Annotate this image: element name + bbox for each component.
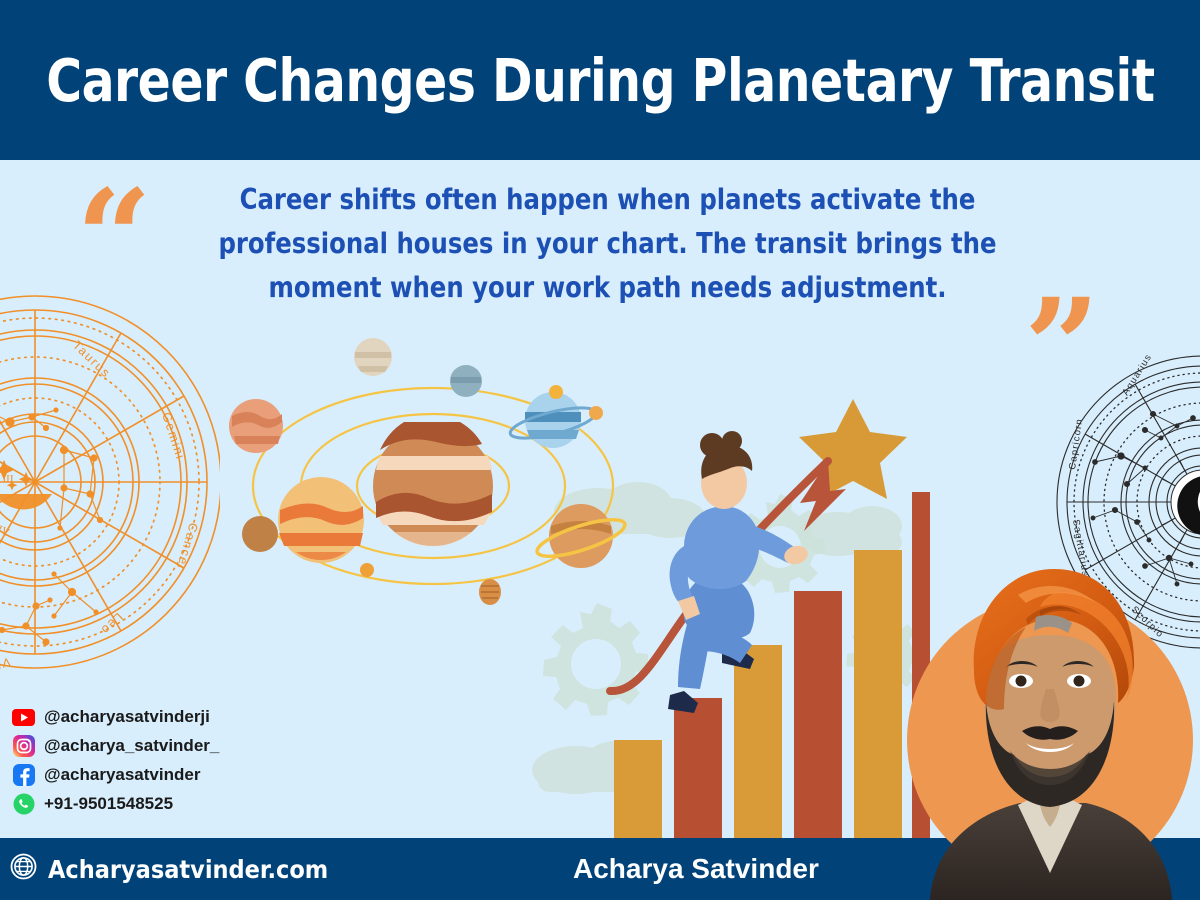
social-handle-facebook: @acharyasatvinder bbox=[44, 765, 200, 785]
quote-text: Career shifts often happen when planets … bbox=[185, 178, 1030, 310]
planet-neptune bbox=[450, 365, 482, 397]
footer-website[interactable]: Acharyasatvinder.com bbox=[10, 838, 328, 900]
social-links: @acharyasatvinderji @acharya_ bbox=[12, 704, 219, 817]
footer-website-text: Acharyasatvinder.com bbox=[48, 855, 328, 884]
poster-canvas: Career Changes During Planetary Transit bbox=[0, 0, 1200, 900]
planets-illustration bbox=[218, 330, 648, 630]
globe-icon bbox=[10, 853, 37, 885]
shoe-left bbox=[668, 691, 698, 713]
zodiac-label-virgo: Virgo bbox=[0, 655, 12, 674]
planet-mercury bbox=[242, 516, 278, 552]
quote-line-3: moment when your work path needs adjustm… bbox=[206, 266, 1009, 310]
social-handle-whatsapp: +91-9501548525 bbox=[44, 794, 173, 814]
zodiac-label-taurus: Taurus bbox=[70, 338, 114, 381]
social-row-facebook[interactable]: @acharyasatvinder bbox=[12, 762, 219, 788]
torso bbox=[683, 506, 759, 589]
zodiac-label-aquarius: Aquarius bbox=[1120, 352, 1154, 398]
quote-mark-close: ” bbox=[1024, 282, 1100, 414]
bar-4 bbox=[794, 591, 842, 840]
planet-uranus bbox=[354, 338, 392, 376]
facebook-icon[interactable] bbox=[12, 764, 35, 787]
youtube-icon[interactable] bbox=[12, 706, 35, 729]
zodiac-label-cancer: Cancer bbox=[173, 521, 200, 573]
header-bar: Career Changes During Planetary Transit bbox=[0, 0, 1200, 160]
instagram-icon[interactable] bbox=[12, 735, 35, 758]
zodiac-label-aries: Aries bbox=[0, 296, 3, 323]
avatar bbox=[890, 555, 1200, 900]
page-title: Career Changes During Planetary Transit bbox=[46, 46, 1154, 115]
quote-line-1: Career shifts often happen when planets … bbox=[206, 178, 1009, 222]
social-row-instagram[interactable]: @acharya_satvinder_ bbox=[12, 733, 219, 759]
social-row-whatsapp[interactable]: +91-9501548525 bbox=[12, 791, 219, 817]
hair-bun bbox=[700, 433, 724, 457]
footer-brand-name: Acharya Satvinder bbox=[573, 838, 819, 900]
bar-3 bbox=[734, 645, 782, 840]
bar-2 bbox=[674, 698, 722, 840]
zodiac-label-capricorn: Capricorn bbox=[1067, 417, 1085, 470]
quote-mark-open: “ bbox=[76, 173, 152, 305]
planet-jupiter bbox=[373, 422, 493, 546]
zodiac-wheel-left: ♈ ♉ ♊ ♋ ♌ ♍ I II III IV V VI Aries Tauru… bbox=[0, 282, 220, 682]
growth-chart bbox=[600, 395, 930, 850]
planet-mars bbox=[229, 399, 283, 453]
hair-bun-2 bbox=[722, 431, 742, 451]
zodiac-label-gemini: Gemini bbox=[159, 411, 188, 462]
planet-venus bbox=[278, 477, 364, 563]
quote-line-2: professional houses in your chart. The t… bbox=[206, 222, 1009, 266]
social-handle-instagram: @acharya_satvinder_ bbox=[44, 736, 219, 756]
whatsapp-icon[interactable] bbox=[12, 793, 35, 816]
social-handle-youtube: @acharyasatvinderji bbox=[44, 707, 210, 727]
bar-1 bbox=[614, 740, 662, 840]
social-row-youtube[interactable]: @acharyasatvinderji bbox=[12, 704, 219, 730]
